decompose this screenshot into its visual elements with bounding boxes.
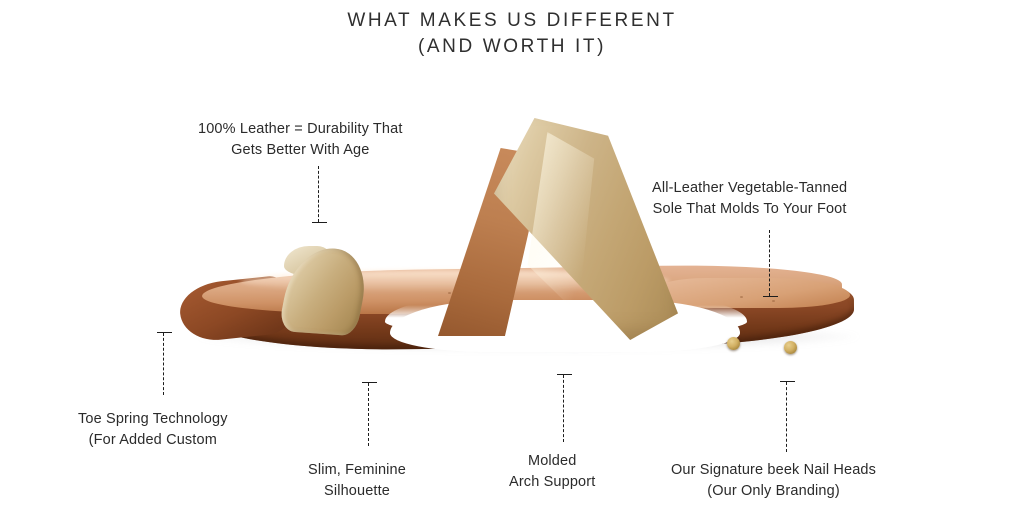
leader-cap bbox=[780, 381, 795, 382]
callout-nail-heads-line-1: Our Signature beek Nail Heads bbox=[671, 460, 876, 481]
leader-cap bbox=[312, 222, 327, 223]
callout-toe-spring: Toe Spring Technology (For Added Custom bbox=[78, 409, 228, 451]
title-line-1: WHAT MAKES US DIFFERENT bbox=[0, 8, 1024, 34]
wide-instep-strap bbox=[438, 118, 678, 336]
callout-leather-line-2: Gets Better With Age bbox=[198, 140, 403, 161]
leader-line-arch-support bbox=[563, 375, 564, 442]
leader-line-sole bbox=[769, 230, 770, 296]
callout-arch-support-line-1: Molded bbox=[509, 451, 595, 472]
leader-line-nail-heads bbox=[786, 382, 787, 452]
callout-sole-line-1: All-Leather Vegetable-Tanned bbox=[652, 178, 847, 199]
leader-cap bbox=[557, 374, 572, 375]
callout-sole: All-Leather Vegetable-Tanned Sole That M… bbox=[652, 178, 847, 220]
callout-arch-support-line-2: Arch Support bbox=[509, 472, 595, 493]
leader-cap bbox=[157, 332, 172, 333]
callout-nail-heads-line-2: (Our Only Branding) bbox=[671, 481, 876, 502]
callout-silhouette-line-2: Silhouette bbox=[308, 481, 406, 502]
leader-line-silhouette bbox=[368, 383, 369, 446]
leader-line-toe-spring bbox=[163, 333, 164, 395]
callout-arch-support: Molded Arch Support bbox=[509, 451, 595, 493]
infographic-canvas: WHAT MAKES US DIFFERENT (AND WORTH IT) bbox=[0, 0, 1024, 507]
callout-toe-spring-line-1: Toe Spring Technology bbox=[78, 409, 228, 430]
callout-sole-line-2: Sole That Molds To Your Foot bbox=[652, 199, 847, 220]
callout-toe-spring-line-2: (For Added Custom bbox=[78, 430, 228, 451]
leather-grain-speck bbox=[772, 300, 775, 302]
leader-cap bbox=[362, 382, 377, 383]
nail-head-icon bbox=[784, 341, 797, 354]
callout-leather: 100% Leather = Durability That Gets Bett… bbox=[198, 119, 403, 161]
callout-silhouette-line-1: Slim, Feminine bbox=[308, 460, 406, 481]
callout-leather-line-1: 100% Leather = Durability That bbox=[198, 119, 403, 140]
leader-line-leather bbox=[318, 166, 319, 222]
callout-nail-heads: Our Signature beek Nail Heads (Our Only … bbox=[671, 460, 876, 502]
title-line-2: (AND WORTH IT) bbox=[0, 34, 1024, 60]
callout-silhouette: Slim, Feminine Silhouette bbox=[308, 460, 406, 502]
leader-cap bbox=[763, 296, 778, 297]
leather-grain-speck bbox=[740, 296, 743, 298]
page-title: WHAT MAKES US DIFFERENT (AND WORTH IT) bbox=[0, 8, 1024, 60]
nail-head-icon bbox=[727, 337, 740, 350]
